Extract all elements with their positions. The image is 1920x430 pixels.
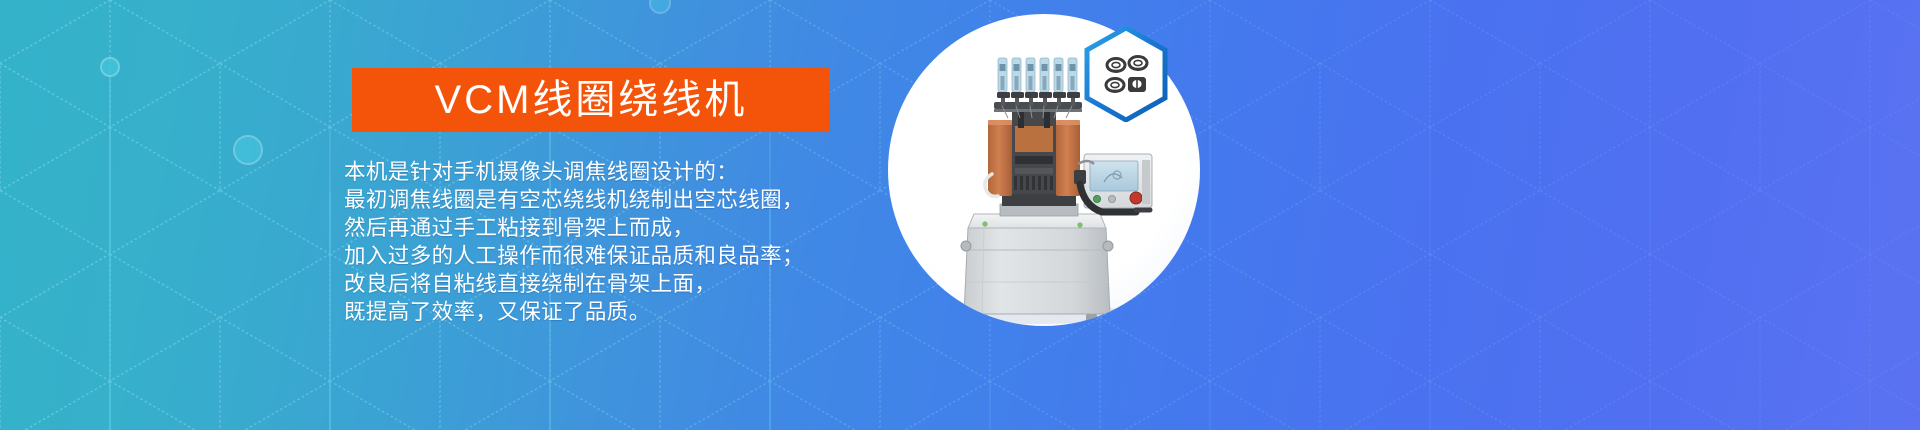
promo-banner: VCM线圈绕线机 本机是针对手机摄像头调焦线圈设计的： 最初调焦线圈是有空芯绕线… <box>0 0 1920 430</box>
description-line: 本机是针对手机摄像头调焦线圈设计的： <box>344 158 884 186</box>
description-line: 然后再通过手工粘接到骨架上而成， <box>344 214 884 242</box>
page-title: VCM线圈绕线机 <box>435 80 748 120</box>
title-banner: VCM线圈绕线机 <box>352 68 830 132</box>
description-line: 最初调焦线圈是有空芯绕线机绕制出空芯线圈， <box>344 186 884 214</box>
hexagon-outline <box>1087 28 1165 120</box>
coil-samples-badge <box>1083 26 1169 122</box>
description-line: 既提高了效率，又保证了品质。 <box>344 298 884 326</box>
description-line: 加入过多的人工操作而很难保证品质和良品率； <box>344 242 884 270</box>
description-line: 改良后将自粘线直接绕制在骨架上面， <box>344 270 884 298</box>
description-block: 本机是针对手机摄像头调焦线圈设计的： 最初调焦线圈是有空芯绕线机绕制出空芯线圈，… <box>344 158 884 326</box>
text-content: VCM线圈绕线机 本机是针对手机摄像头调焦线圈设计的： 最初调焦线圈是有空芯绕线… <box>344 0 884 430</box>
product-photo <box>888 14 1200 326</box>
